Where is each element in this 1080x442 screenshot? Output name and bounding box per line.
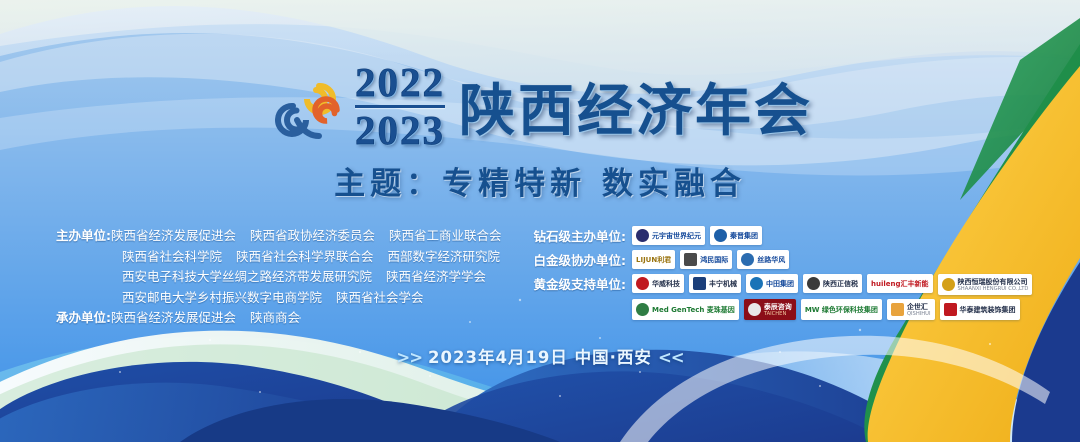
sponsor-name: 丰宁机械 bbox=[709, 280, 737, 288]
platinum-sponsor-label: 白金级协办单位: bbox=[520, 250, 632, 271]
sponsor-name: 中田集团 bbox=[766, 280, 794, 288]
sponsor-logo: MW 绿色环保科技集团 bbox=[801, 299, 882, 320]
logo-mark-icon bbox=[636, 229, 649, 242]
sponsor-name: 元宇宙世界纪元 bbox=[652, 232, 701, 240]
logo-mark-icon bbox=[684, 253, 697, 266]
organizers-block: 主办单位: 陕西省经济发展促进会陕西省政协经济委员会陕西省工商业联合会 陕西省社… bbox=[56, 226, 516, 329]
gold-sponsor-row: 黄金级支持单位: 华威科技 丰宁机械 中田集团 陕西正信税 bbox=[520, 274, 1068, 320]
logo-mark-icon bbox=[714, 229, 727, 242]
diamond-sponsor-label: 钻石级主办单位: bbox=[520, 226, 632, 247]
poster-subtitle: 主题：专精特新 数实融合 bbox=[0, 158, 1080, 203]
undertaker-label: 承办单位: bbox=[56, 308, 111, 329]
sponsor-name: 华威科技 bbox=[652, 280, 680, 288]
sponsor-name: MW 绿色环保科技集团 bbox=[805, 306, 878, 314]
diamond-sponsor-logos: 元宇宙世界纪元 秦晋集团 bbox=[632, 226, 1068, 245]
undertaker-line: 承办单位: 陕西省经济发展促进会陕商商会 bbox=[56, 308, 516, 329]
sponsor-logo: 丰宁机械 bbox=[689, 274, 741, 293]
host-line-4-values: 西安邮电大学乡村振兴数字电商学院陕西省社会学会 bbox=[56, 288, 516, 309]
sponsors-block: 钻石级主办单位: 元宇宙世界纪元 秦晋集团 白金级协办单位: LIJUN利君 bbox=[520, 226, 1068, 323]
sponsor-logo: 秦晋集团 bbox=[710, 226, 762, 245]
sponsor-name: Med GenTech 麦珠基因 bbox=[652, 306, 735, 314]
sponsor-name: 丝路华风 bbox=[757, 256, 785, 264]
sponsor-logo: 陕西正信税 bbox=[803, 274, 862, 293]
chevron-left-icon: << bbox=[658, 348, 684, 367]
host-org: 陕西省社会学会 bbox=[336, 290, 424, 305]
sponsor-name: 华泰建筑装饰集团 bbox=[960, 306, 1016, 314]
title-row: 2022 2023 陕西经济年会 bbox=[0, 56, 1080, 156]
platinum-sponsor-logos: LIJUN利君 鸿民国际 丝路华风 bbox=[632, 250, 1068, 269]
sponsor-logo: 鸿民国际 bbox=[680, 250, 732, 269]
gold-sponsor-logos: 华威科技 丰宁机械 中田集团 陕西正信税 huileng汇丰新能 bbox=[632, 274, 1068, 320]
sponsor-name: 企世汇 bbox=[907, 303, 931, 311]
logo-mark-icon bbox=[748, 303, 761, 316]
logo-mark-icon bbox=[944, 303, 957, 316]
host-org: 陕西省经济学学会 bbox=[386, 269, 486, 284]
sponsor-logo: 泰辰咨询 TAICHEN bbox=[744, 299, 796, 320]
year-top: 2022 bbox=[355, 62, 445, 103]
sponsor-logo: Med GenTech 麦珠基因 bbox=[632, 299, 739, 320]
host-line-4: 西安邮电大学乡村振兴数字电商学院陕西省社会学会 bbox=[56, 288, 516, 309]
year-block: 2022 2023 bbox=[355, 62, 445, 151]
logo-mark-icon bbox=[942, 278, 955, 291]
host-line-2: 陕西省社会科学院陕西省社会科学界联合会西部数字经济研究院 bbox=[56, 247, 516, 268]
diamond-sponsor-row: 钻石级主办单位: 元宇宙世界纪元 秦晋集团 bbox=[520, 226, 1068, 247]
sponsor-subname: TAICHEN bbox=[764, 311, 792, 317]
year-bottom: 2023 bbox=[355, 110, 445, 151]
gold-sponsor-label: 黄金级支持单位: bbox=[520, 274, 632, 295]
sponsor-name: LIJUN利君 bbox=[636, 256, 671, 264]
sponsor-logo: 陕西恒瑞股份有限公司 SHAANXI HENGRUI CO.,LTD bbox=[938, 274, 1033, 295]
logo-mark-icon bbox=[750, 277, 763, 290]
host-org: 陕西省政协经济委员会 bbox=[250, 228, 375, 243]
logo-mark-icon bbox=[693, 277, 706, 290]
logo-mark-icon bbox=[741, 253, 754, 266]
three-spiral-emblem-icon bbox=[267, 66, 347, 146]
sponsor-logo: 企世汇 QISHIHUI bbox=[887, 299, 935, 320]
sponsor-name: 秦晋集团 bbox=[730, 232, 758, 240]
sponsor-name: huileng汇丰新能 bbox=[871, 280, 929, 288]
sponsor-logo: 丝路华风 bbox=[737, 250, 789, 269]
chevron-right-icon: >> bbox=[396, 348, 422, 367]
logo-mark-icon bbox=[636, 303, 649, 316]
platinum-sponsor-row: 白金级协办单位: LIJUN利君 鸿民国际 丝路华风 bbox=[520, 250, 1068, 271]
host-org: 西安邮电大学乡村振兴数字电商学院 bbox=[122, 290, 322, 305]
sponsor-logo: LIJUN利君 bbox=[632, 250, 675, 269]
host-org: 陕西省社会科学院 bbox=[122, 249, 222, 264]
event-date-line: >>2023年4月19日 中国·西安<< bbox=[0, 344, 1080, 368]
host-org: 陕西省经济发展促进会 bbox=[111, 228, 236, 243]
host-label: 主办单位: bbox=[56, 226, 111, 247]
host-org: 陕西省工商业联合会 bbox=[389, 228, 502, 243]
undertaker-org: 陕商商会 bbox=[250, 310, 300, 325]
host-line-3-values: 西安电子科技大学丝绸之路经济带发展研究院陕西省经济学学会 bbox=[56, 267, 516, 288]
sponsor-logo: 华威科技 bbox=[632, 274, 684, 293]
host-org: 陕西省社会科学界联合会 bbox=[236, 249, 374, 264]
event-date-text: 2023年4月19日 中国·西安 bbox=[428, 348, 652, 367]
host-org: 西安电子科技大学丝绸之路经济带发展研究院 bbox=[122, 269, 372, 284]
sponsor-name: 泰辰咨询 bbox=[764, 303, 792, 311]
sponsor-name: 陕西恒瑞股份有限公司 bbox=[958, 278, 1029, 286]
sponsor-name: 鸿民国际 bbox=[700, 256, 728, 264]
logo-mark-icon bbox=[807, 277, 820, 290]
sponsor-logo: 元宇宙世界纪元 bbox=[632, 226, 705, 245]
host-line-3: 西安电子科技大学丝绸之路经济带发展研究院陕西省经济学学会 bbox=[56, 267, 516, 288]
conference-poster: 2022 2023 陕西经济年会 主题：专精特新 数实融合 主办单位: 陕西省经… bbox=[0, 0, 1080, 442]
host-org: 西部数字经济研究院 bbox=[388, 249, 501, 264]
host-line-1: 主办单位: 陕西省经济发展促进会陕西省政协经济委员会陕西省工商业联合会 bbox=[56, 226, 516, 247]
sponsor-logo: 华泰建筑装饰集团 bbox=[940, 299, 1020, 320]
sponsor-name: 陕西正信税 bbox=[823, 280, 858, 288]
host-line-1-values: 陕西省经济发展促进会陕西省政协经济委员会陕西省工商业联合会 bbox=[111, 226, 516, 247]
logo-mark-icon bbox=[891, 303, 904, 316]
host-line-2-values: 陕西省社会科学院陕西省社会科学界联合会西部数字经济研究院 bbox=[56, 247, 516, 268]
sponsor-logo: 中田集团 bbox=[746, 274, 798, 293]
sponsor-subname: SHAANXI HENGRUI CO.,LTD bbox=[958, 286, 1029, 292]
page-title: 陕西经济年会 bbox=[459, 66, 813, 147]
sponsor-logo: huileng汇丰新能 bbox=[867, 274, 933, 293]
undertaker-values: 陕西省经济发展促进会陕商商会 bbox=[111, 308, 516, 329]
sponsor-subname: QISHIHUI bbox=[907, 311, 931, 317]
undertaker-org: 陕西省经济发展促进会 bbox=[111, 310, 236, 325]
logo-mark-icon bbox=[636, 277, 649, 290]
